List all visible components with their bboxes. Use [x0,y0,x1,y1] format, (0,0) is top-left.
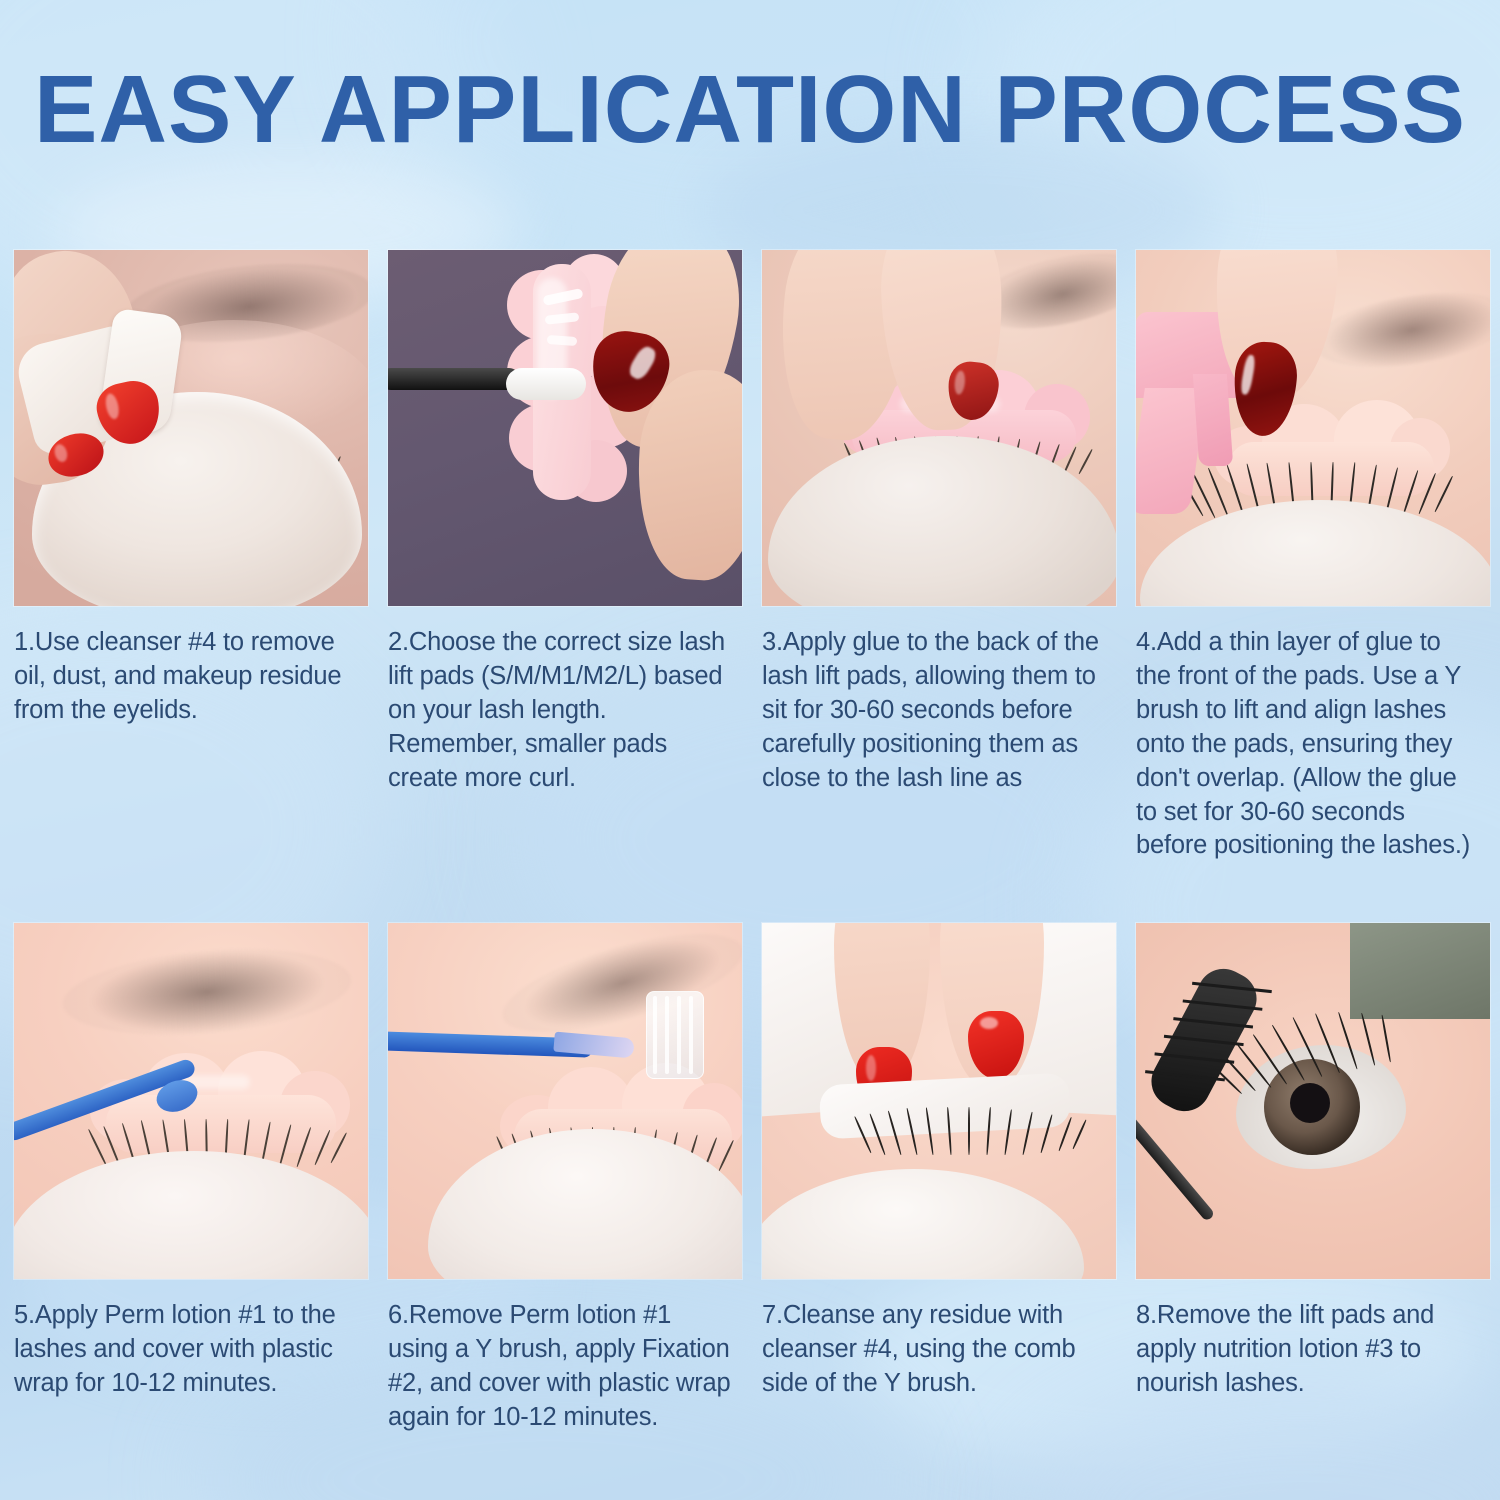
step-6-fixation-lotion-photo [388,923,742,1279]
step-card-8: 8.Remove the lift pads and apply nutriti… [1136,923,1490,1435]
step-5-perm-lotion-photo [14,923,368,1279]
applicator-tip [506,368,586,400]
step-caption: 5.Apply Perm lotion #1 to the lashes and… [14,1299,368,1401]
step-card-4: 4.Add a thin layer of glue to the front … [1136,250,1490,863]
step-card-5: 5.Apply Perm lotion #1 to the lashes and… [14,923,368,1435]
step-7-cleanse-residue-photo [762,923,1116,1279]
step-4-aligning-lashes-photo [1136,250,1490,606]
step-caption: 3.Apply glue to the back of the lash lif… [762,626,1116,796]
step-card-6: 6.Remove Perm lotion #1 using a Y brush,… [388,923,742,1435]
page-title: EASY APPLICATION PROCESS [8,62,1493,158]
steps-grid: 1.Use cleanser #4 to remove oil, dust, a… [14,250,1492,1435]
step-caption: 2.Choose the correct size lash lift pads… [388,626,742,796]
lashes-group [870,1107,1086,1159]
steps-row-bottom: 5.Apply Perm lotion #1 to the lashes and… [14,923,1492,1435]
step-card-3: 3.Apply glue to the back of the lash lif… [762,250,1116,863]
step-1-cleansing-eyelid-photo [14,250,368,606]
step-caption: 1.Use cleanser #4 to remove oil, dust, a… [14,626,368,728]
clear-comb-tool [646,991,704,1079]
step-8-nutrition-lotion-photo [1136,923,1490,1279]
step-caption: 7.Cleanse any residue with cleanser #4, … [762,1299,1116,1401]
steps-row-top: 1.Use cleanser #4 to remove oil, dust, a… [14,250,1492,863]
step-caption: 8.Remove the lift pads and apply nutriti… [1136,1299,1490,1401]
step-card-2: 2.Choose the correct size lash lift pads… [388,250,742,863]
step-3-positioning-pad-photo [762,250,1116,606]
applicator-handle [388,368,520,390]
step-card-1: 1.Use cleanser #4 to remove oil, dust, a… [14,250,368,863]
step-2-choosing-lash-pad-photo [388,250,742,606]
step-caption: 6.Remove Perm lotion #1 using a Y brush,… [388,1299,742,1435]
step-caption: 4.Add a thin layer of glue to the front … [1136,626,1490,863]
step-card-7: 7.Cleanse any residue with cleanser #4, … [762,923,1116,1435]
